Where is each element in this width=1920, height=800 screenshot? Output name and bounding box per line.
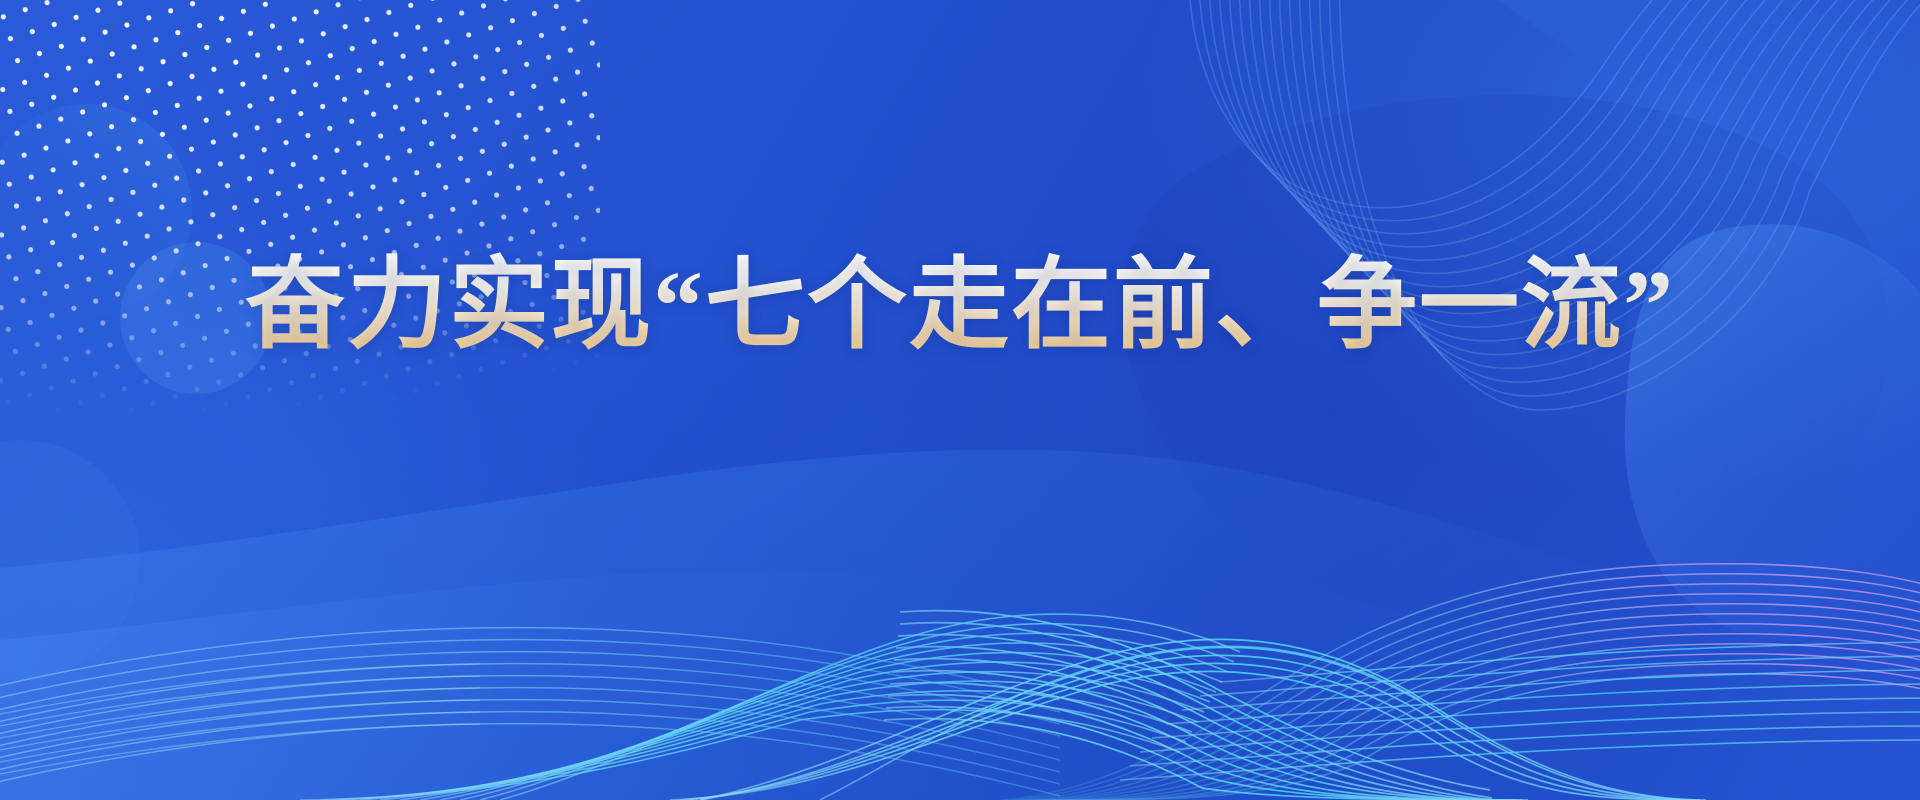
wave-line-bundle-bottom-left [0, 0, 1920, 800]
wave-band-bottom-left [0, 0, 1920, 800]
soft-circle-left-bottom [0, 440, 140, 680]
title-container: 奋力实现“七个走在前、争一流” [0, 236, 1920, 376]
curved-line-bundle-top-right [0, 0, 1920, 800]
banner-canvas: 奋力实现“七个走在前、争一流” [0, 0, 1920, 800]
soft-blob-group [0, 0, 1920, 800]
soft-streak-top-right [1400, 0, 1920, 81]
dot-grid-pattern-top-left [0, 0, 1920, 800]
wave-line-bundle-bottom [0, 0, 1920, 800]
background-gradient [0, 0, 1920, 800]
banner-title: 奋力实现“七个走在前、争一流” [245, 247, 1675, 365]
